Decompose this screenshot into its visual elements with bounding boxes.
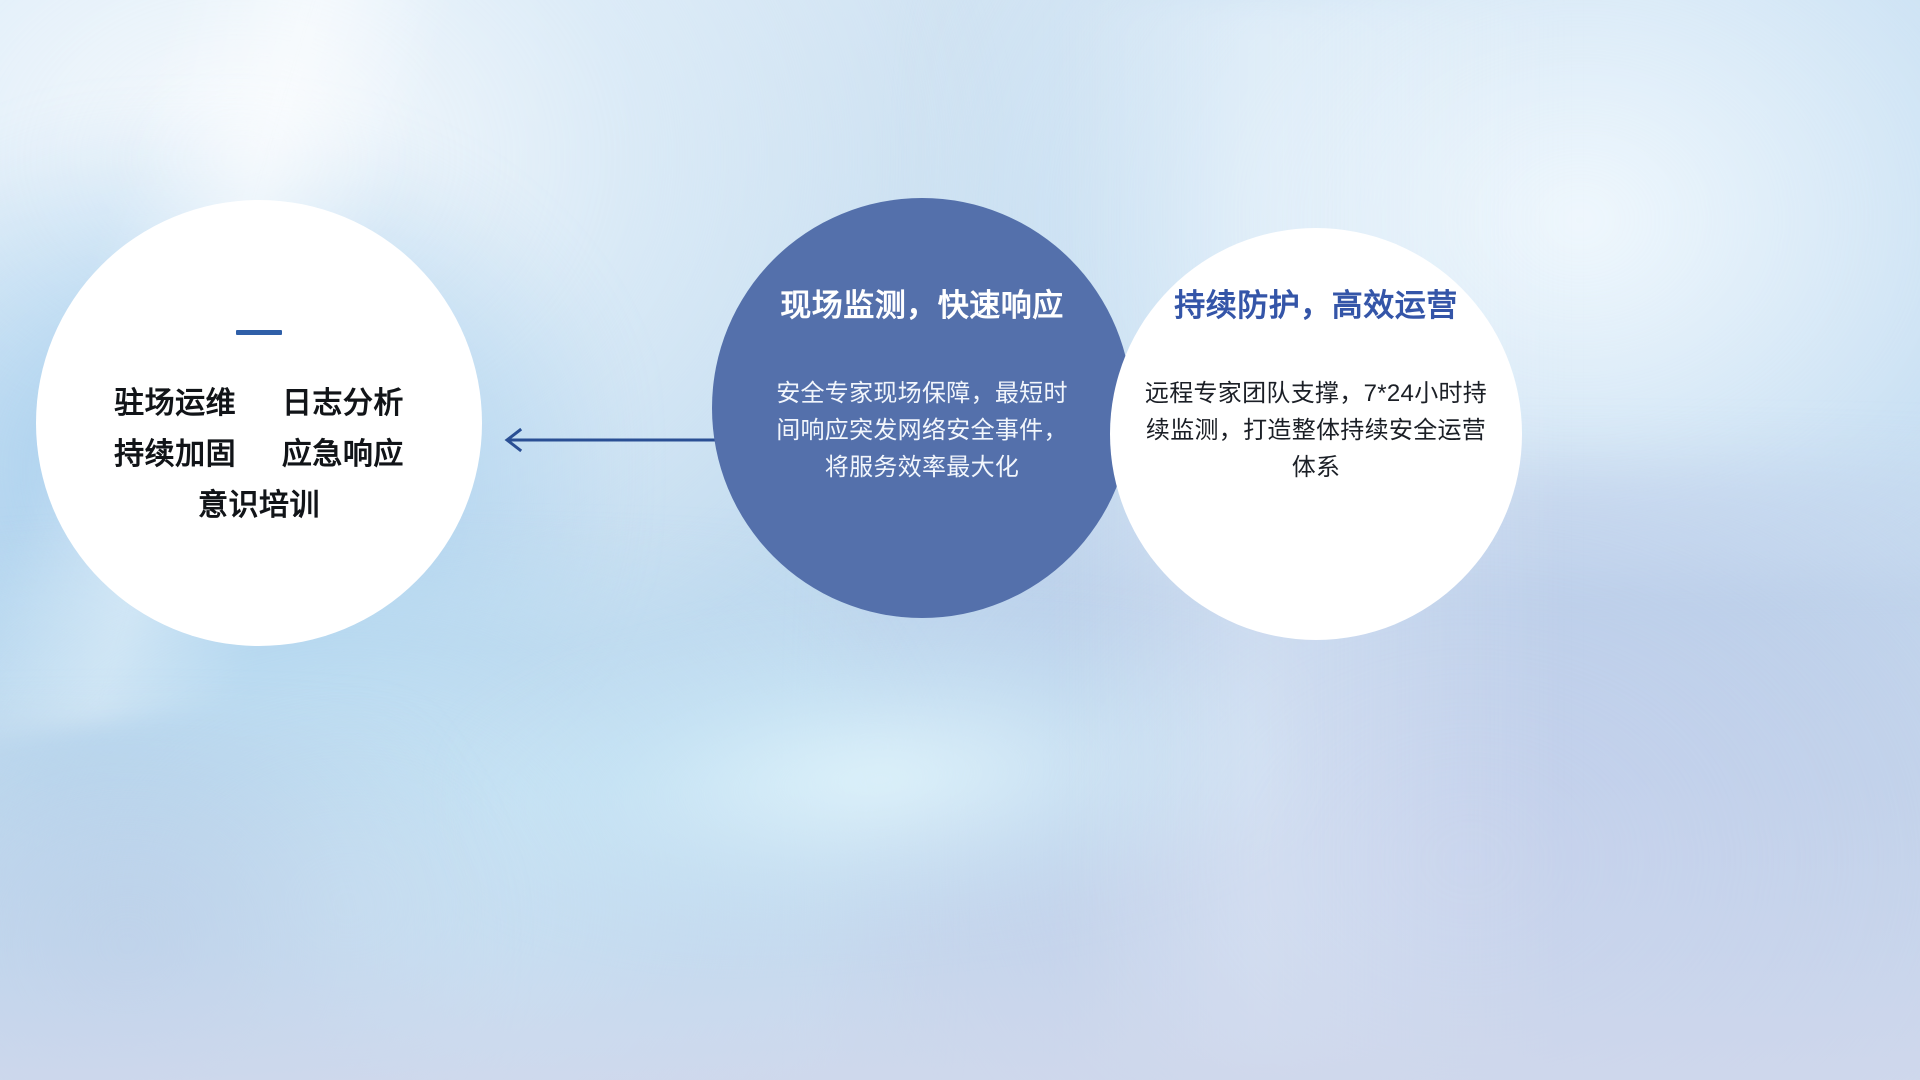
right-service-circle: 持续防护，高效运营 远程专家团队支撑，7*24小时持续监测，打造整体持续安全运营… xyxy=(1110,228,1522,640)
dash-divider-icon xyxy=(236,330,282,335)
keyword-label: 持续加固 xyxy=(114,438,236,471)
background-horizon-fade xyxy=(0,780,1920,1080)
keyword-label: 驻场运维 xyxy=(114,387,236,420)
list-item: 驻场运维 日志分析 xyxy=(114,389,404,419)
middle-highlight-circle: 现场监测，快速响应 安全专家现场保障，最短时间响应突发网络安全事件，将服务效率最… xyxy=(712,198,1132,618)
middle-circle-body: 安全专家现场保障，最短时间响应突发网络安全事件，将服务效率最大化 xyxy=(773,375,1071,487)
flow-arrow xyxy=(490,424,722,456)
keyword-label: 日志分析 xyxy=(282,387,404,420)
keyword-label: 应急响应 xyxy=(282,438,404,471)
left-circle-content: 驻场运维 日志分析 持续加固 应急响应 意识培训 xyxy=(36,200,482,646)
list-item: 意识培训 xyxy=(198,491,320,521)
keyword-label: 意识培训 xyxy=(198,489,320,522)
flow-arrow-icon xyxy=(490,424,722,456)
middle-circle-content: 现场监测，快速响应 安全专家现场保障，最短时间响应突发网络安全事件，将服务效率最… xyxy=(712,198,1132,618)
list-item: 持续加固 应急响应 xyxy=(114,440,404,470)
left-circle-keyword-list: 驻场运维 日志分析 持续加固 应急响应 意识培训 xyxy=(114,389,404,521)
right-circle-title: 持续防护，高效运营 xyxy=(1174,290,1458,321)
right-circle-body: 远程专家团队支撑，7*24小时持续监测，打造整体持续安全运营体系 xyxy=(1137,375,1495,487)
right-circle-content: 持续防护，高效运营 远程专家团队支撑，7*24小时持续监测，打造整体持续安全运营… xyxy=(1110,228,1522,640)
left-service-circle: 驻场运维 日志分析 持续加固 应急响应 意识培训 xyxy=(36,200,482,646)
middle-circle-title: 现场监测，快速响应 xyxy=(780,290,1064,321)
